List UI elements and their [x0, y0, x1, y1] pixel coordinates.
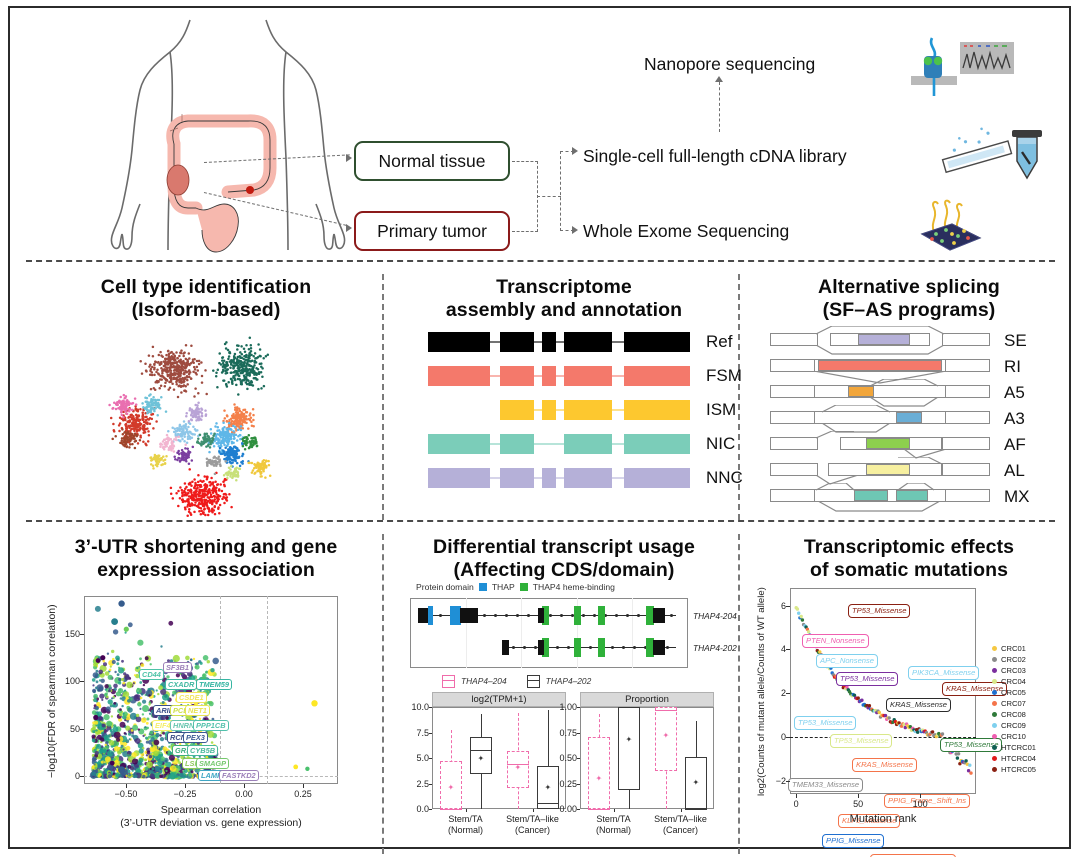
- exon-block: [542, 468, 556, 488]
- splicing-event-label-af: AF: [1004, 435, 1026, 455]
- heme-domain: [598, 606, 605, 625]
- figure-frame: Normal tissue Primary tumor Nanopore seq…: [8, 6, 1071, 849]
- flank-exon-right: [942, 489, 990, 502]
- intron-arrow: [483, 614, 486, 617]
- panel-utr-shortening: 3’-UTR shortening and gene expression as…: [28, 530, 384, 857]
- transcript-model-nnc: [428, 468, 698, 488]
- legend-dot-htcrc04: [992, 756, 997, 761]
- exon-block: [538, 640, 544, 655]
- divider-top: [26, 260, 1055, 262]
- legend-label-crc05[interactable]: CRC05: [1001, 688, 1026, 697]
- flank-exon-left: [770, 359, 818, 372]
- x-tick-label: 0.00: [231, 789, 257, 799]
- exon-block: [460, 608, 478, 623]
- gene-label-csde1[interactable]: CSDE1: [176, 692, 207, 703]
- boxplot-mean-marker: ✦: [663, 732, 670, 740]
- x-tick-label: −0.50: [113, 789, 139, 799]
- intron-arrow: [439, 614, 442, 617]
- tag-primary-tumor[interactable]: Primary tumor: [354, 211, 510, 251]
- facet-x-tickmark: [466, 809, 467, 812]
- intron-arrow: [527, 614, 530, 617]
- splicing-event-label-ri: RI: [1004, 357, 1021, 377]
- splicing-event-label-a5: A5: [1004, 383, 1025, 403]
- panel-title-splicing: Alternative splicing (SF–AS programs): [744, 276, 1074, 321]
- splicing-event-af: [770, 432, 990, 458]
- facet-y-tickmark: [577, 707, 580, 708]
- protein-domain-legend-title: Protein domain: [416, 582, 474, 592]
- boxplot-mean-marker: ✦: [515, 764, 522, 772]
- legend-dot-crc09: [992, 723, 997, 728]
- intron-arrow: [666, 646, 669, 649]
- gene-label-cd44[interactable]: CD44: [139, 669, 164, 680]
- facet-x-group-label-l2: (Normal): [580, 825, 648, 835]
- arrow-nanopore: [715, 76, 723, 82]
- mut-y-tickmark: [786, 781, 790, 782]
- top-workflow-row: Normal tissue Primary tumor Nanopore seq…: [20, 16, 1080, 262]
- exon-block: [500, 468, 534, 488]
- exon-block: [500, 400, 534, 420]
- exon-block: [500, 332, 534, 352]
- gene-label-cxadr[interactable]: CXADR: [165, 679, 197, 690]
- heme-domain: [598, 638, 605, 657]
- splicing-event-a3: [770, 406, 990, 432]
- exon-block: [624, 400, 690, 420]
- facet-x-group-label-l1: Stem/TA–like: [499, 814, 567, 824]
- legend-dot-crc10: [992, 734, 997, 739]
- legend-label-crc08[interactable]: CRC08: [1001, 710, 1026, 719]
- exon-block: [502, 640, 509, 655]
- box-legend-label-0: THAP4–204: [461, 676, 507, 686]
- boxplot-median: [470, 750, 492, 751]
- facet-y-tickmark: [577, 758, 580, 759]
- exon-block: [624, 468, 690, 488]
- boxplot-mean-marker: ✦: [596, 775, 603, 783]
- box-legend-label-1: THAP4–202: [546, 676, 592, 686]
- exon-block: [538, 608, 544, 623]
- panel-title-mutations: Transcriptomic effects of somatic mutati…: [744, 536, 1074, 581]
- transcript-category-label-ref: Ref: [706, 332, 732, 352]
- gene-label-tmem59[interactable]: TMEM59: [196, 679, 232, 690]
- legend-label-crc01[interactable]: CRC01: [1001, 644, 1026, 653]
- utr-xlabel-line1: Spearman correlation: [84, 804, 338, 816]
- legend-label-crc10[interactable]: CRC10: [1001, 732, 1026, 741]
- mutation-label-pten_nonsense[interactable]: PTEN_Nonsense: [802, 634, 869, 648]
- middle-analysis-row: Cell type identification (Isoform-based)…: [20, 270, 1080, 522]
- intron-arrow: [633, 646, 636, 649]
- step-label-nanopore: Nanopore sequencing: [644, 54, 815, 75]
- intron-arrow: [567, 646, 570, 649]
- y-tickmark: [80, 634, 84, 635]
- legend-dot-crc01: [992, 646, 997, 651]
- exon-block: [428, 468, 490, 488]
- y-tick-label: 0: [58, 771, 80, 781]
- tag-normal-label: Normal tissue: [379, 151, 486, 172]
- transcript-category-label-nic: NIC: [706, 434, 735, 454]
- facet-y-tickmark: [429, 784, 432, 785]
- mut-y-tick-label: −2: [766, 776, 786, 786]
- step-label-cdna: Single-cell full-length cDNA library: [583, 146, 847, 167]
- domain-swatch-0: [479, 583, 487, 591]
- facet-strip-0: log2(TPM+1): [432, 692, 566, 707]
- flank-exon-right: [942, 437, 990, 450]
- splicing-event-label-se: SE: [1004, 331, 1027, 351]
- mut-x-tickmark: [796, 794, 797, 798]
- mx-exon-b: [896, 490, 928, 501]
- tag-normal-tissue[interactable]: Normal tissue: [354, 141, 510, 181]
- protein-domain-legend: Protein domainTHAPTHAP4 heme-binding: [416, 580, 716, 594]
- intron-arrow: [670, 614, 673, 617]
- exon-block: [542, 400, 556, 420]
- divider-bottom: [26, 520, 1055, 522]
- boxplot-mean-marker: ✦: [626, 736, 633, 744]
- exon-block: [564, 468, 612, 488]
- intron-arrow: [589, 646, 592, 649]
- bottom-results-row: 3’-UTR shortening and gene expression as…: [20, 530, 1080, 857]
- alt-first-exon-fill: [866, 438, 910, 449]
- mutation-label-pik3ca_missense[interactable]: PIK3CA_Missense: [908, 666, 979, 680]
- connector-tumor-out: [512, 231, 538, 232]
- facet-y-tickmark: [429, 733, 432, 734]
- legend-dot-crc08: [992, 712, 997, 717]
- splicing-event-a5: [770, 380, 990, 406]
- facet-x-group-label-l1: Stem/TA–like: [647, 814, 715, 824]
- boxplot-median: [618, 707, 640, 708]
- legend-label-crc09[interactable]: CRC09: [1001, 721, 1026, 730]
- facet-x-tickmark: [533, 809, 534, 812]
- exon-block: [428, 332, 490, 352]
- gene-label-smagp[interactable]: SMAGP: [196, 758, 229, 769]
- flank-exon-left: [770, 333, 818, 346]
- gene-label-cyb5b[interactable]: CYB5B: [187, 745, 218, 756]
- facet-y-tick-label: 0.25: [552, 779, 577, 789]
- legend-label-htcrc05[interactable]: HTCRC05: [1001, 765, 1036, 774]
- legend-label-htcrc01[interactable]: HTCRC01: [1001, 743, 1036, 752]
- legend-label-crc04[interactable]: CRC04: [1001, 677, 1026, 686]
- boxplot-box: [618, 707, 640, 790]
- facet-x-tickmark: [614, 809, 615, 812]
- assembly-transcript-models: RefFSMISMNICNNC: [388, 332, 740, 512]
- splicing-event-se: [770, 328, 990, 354]
- gene-label-sf3b1[interactable]: SF3B1: [163, 662, 192, 673]
- intron-arrow: [637, 614, 640, 617]
- domain-legend-label-0: THAP: [492, 582, 515, 592]
- transcript-model-ism: [428, 400, 698, 420]
- mut-x-tickmark: [858, 794, 859, 798]
- facet-y-tickmark: [577, 809, 580, 810]
- transcript-category-label-nnc: NNC: [706, 468, 743, 488]
- exon-block: [428, 434, 490, 454]
- mutation-label-tp53_missense[interactable]: TP53_Missense: [830, 734, 892, 748]
- boxplot-mean-marker: ✦: [693, 779, 700, 787]
- mut-y-tick-label: 4: [766, 644, 786, 654]
- gene-label-pex3[interactable]: PEX3: [183, 732, 208, 743]
- boxplot-median: [655, 710, 677, 711]
- panel-title-assembly: Transcriptome assembly and annotation: [388, 276, 740, 321]
- legend-label-crc07[interactable]: CRC07: [1001, 699, 1026, 708]
- gene-label-net1[interactable]: NET1: [185, 705, 210, 716]
- intron-arrow: [516, 614, 519, 617]
- box-legend: THAP4–204 THAP4–202: [442, 674, 692, 688]
- facet-x-tickmark: [681, 809, 682, 812]
- intron-arrow: [593, 614, 596, 617]
- transcript-model-fsm: [428, 366, 698, 386]
- transcript-name-thap4-202: THAP4-202: [693, 643, 737, 653]
- tag-tumor-label: Primary tumor: [377, 221, 487, 242]
- exon-block: [500, 434, 534, 454]
- x-tickmark: [185, 784, 186, 788]
- transcript-model-nic: [428, 434, 698, 454]
- arrow-tumor: [346, 224, 352, 232]
- heme-domain: [574, 638, 581, 657]
- domain-legend-label-1: THAP4 heme-binding: [533, 582, 615, 592]
- exon-block: [564, 366, 612, 386]
- connector-merge-horizontal: [537, 196, 561, 197]
- panel-alternative-splicing: Alternative splicing (SF–AS programs) SE…: [744, 270, 1074, 522]
- legend-dot-crc02: [992, 657, 997, 662]
- arrow-normal: [346, 154, 352, 162]
- mut-y-tickmark: [786, 737, 790, 738]
- exon-block: [624, 434, 690, 454]
- x-tickmark: [126, 784, 127, 788]
- connector-cdna-to-nanopore: [719, 82, 720, 132]
- exon-block: [564, 434, 612, 454]
- y-tick-label: 50: [58, 724, 80, 734]
- splicing-event-label-mx: MX: [1004, 487, 1030, 507]
- panel-title-cell-type: Cell type identification (Isoform-based): [28, 276, 384, 321]
- facet-y-tick-label: 0.75: [552, 728, 577, 738]
- boxplot-mean-marker: ✦: [448, 784, 455, 792]
- intron-arrow: [622, 646, 625, 649]
- exon-block: [564, 332, 612, 352]
- intron-arrow: [556, 646, 559, 649]
- y-tickmark: [80, 729, 84, 730]
- y-tickmark: [80, 681, 84, 682]
- mut-xlabel: Mutation rank: [790, 813, 976, 825]
- gene-label-fastkd2[interactable]: FASTKD2: [219, 770, 259, 781]
- skipped-exon-fill: [858, 334, 910, 345]
- structure-gridline: [521, 598, 522, 668]
- splicing-event-al: [770, 458, 990, 484]
- facet-y-tickmark: [429, 758, 432, 759]
- x-tick-label: −0.25: [172, 789, 198, 799]
- boxplot-box: [588, 737, 610, 809]
- panel-differential-transcript-usage: Differential transcript usage (Affecting…: [388, 530, 740, 857]
- facet-strip-1: Proportion: [580, 692, 714, 707]
- boxplot-mean-marker: ✦: [545, 784, 552, 792]
- legend-dot-htcrc01: [992, 745, 997, 750]
- legend-dot-htcrc05: [992, 767, 997, 772]
- structure-gridline: [632, 598, 633, 668]
- mutation-rank-plot: TP53_MissensePTEN_NonsenseAPC_NonsenseTP…: [744, 582, 1074, 857]
- heme-domain: [574, 606, 581, 625]
- domain-swatch-1: [520, 583, 528, 591]
- legend-label-crc02[interactable]: CRC02: [1001, 655, 1026, 664]
- facet-y-tick-label: 10.0: [404, 702, 429, 712]
- panel-transcriptome-assembly: Transcriptome assembly and annotation Re…: [388, 270, 740, 522]
- mutation-label-ppig_missense[interactable]: PPIG_Missense: [822, 834, 884, 848]
- boxplot-median: [440, 809, 462, 810]
- intron-arrow: [549, 614, 552, 617]
- mut-x-tick-label: 0: [784, 799, 808, 809]
- panel-title-dtu: Differential transcript usage (Affecting…: [388, 536, 740, 581]
- x-tick-label: 0.25: [290, 789, 316, 799]
- splicing-event-models: SERIA5A3AFALMX: [744, 328, 1074, 518]
- flank-exon-right: [942, 333, 990, 346]
- exon-block: [428, 366, 490, 386]
- facet-y-tick-label: 0.0: [404, 804, 429, 814]
- splicing-event-ri: [770, 354, 990, 380]
- mut-ylabel: log2(Counts of mutant allele/Counts of W…: [756, 587, 767, 796]
- facet-x-group-label-l2: (Cancer): [499, 825, 567, 835]
- flank-exon-right: [942, 385, 990, 398]
- mutation-label-tmem33_missense[interactable]: TMEM33_Missense: [788, 778, 863, 792]
- step-label-wes: Whole Exome Sequencing: [583, 221, 789, 242]
- alt-last-exon-fill: [866, 464, 910, 475]
- mut-y-tick-label: 2: [766, 688, 786, 698]
- y-tick-label: 150: [58, 629, 80, 639]
- intron-arrow: [615, 614, 618, 617]
- box-legend-swatch-0: [442, 675, 455, 688]
- intron-arrow: [582, 614, 585, 617]
- panel-somatic-mutations: Transcriptomic effects of somatic mutati…: [744, 530, 1074, 857]
- flank-exon-left: [770, 463, 818, 476]
- facet-x-group-label-l1: Stem/TA: [580, 814, 648, 824]
- connector-normal-out: [512, 161, 538, 162]
- alt-3ss-fill: [896, 412, 922, 423]
- panel-cell-type-identification: Cell type identification (Isoform-based): [28, 270, 384, 522]
- nanopore-pore-signal-icon: [908, 36, 1018, 98]
- mut-y-tick-label: 0: [766, 732, 786, 742]
- arrow-wes: [572, 226, 578, 234]
- facet-x-group-label-l2: (Normal): [432, 825, 500, 835]
- exon-block: [418, 608, 428, 623]
- flank-exon-left: [770, 489, 818, 502]
- legend-dot-crc05: [992, 690, 997, 695]
- intron-arrow: [560, 614, 563, 617]
- x-tickmark: [244, 784, 245, 788]
- utr-ylabel: −log10(FDR of spearman correlation): [46, 604, 58, 778]
- intron-arrow: [512, 646, 515, 649]
- y-tickmark: [80, 776, 84, 777]
- utr-volcano-plot: SF3B1CD44CXADRTMEM59CSDE1ARIH2PCBP2NET1E…: [28, 588, 384, 856]
- exon-block: [542, 366, 556, 386]
- mutation-label-tp53_missense[interactable]: TP53_Missense: [836, 672, 898, 686]
- facet-y-tickmark: [577, 733, 580, 734]
- mutation-label-tp53_missense[interactable]: TP53_Missense: [794, 716, 856, 730]
- intron-arrow: [611, 646, 614, 649]
- intron-arrow: [626, 614, 629, 617]
- facet-y-tick-label: 0.00: [552, 804, 577, 814]
- legend-dot-crc03: [992, 668, 997, 673]
- mutation-label-kras_missense[interactable]: KRAS_Missense: [886, 698, 951, 712]
- exome-capture-array-icon: [908, 198, 988, 260]
- flank-exon-right: [942, 463, 990, 476]
- mx-exon-a: [854, 490, 888, 501]
- intron-arrow: [505, 614, 508, 617]
- legend-label-crc03[interactable]: CRC03: [1001, 666, 1026, 675]
- exon-block: [653, 640, 665, 655]
- connector-split-vertical: [560, 151, 561, 231]
- mut-y-tick-label: 6: [766, 601, 786, 611]
- boxplot-median: [685, 809, 707, 810]
- exon-block: [653, 608, 665, 623]
- gene-label-ppp1cb[interactable]: PPP1CB: [193, 720, 229, 731]
- flank-exon-left: [770, 411, 818, 424]
- facet-x-group-label-l2: (Cancer): [647, 825, 715, 835]
- mut-x-tickmark: [920, 794, 921, 798]
- mutation-label-tp53_missense[interactable]: TP53_Missense: [848, 604, 910, 618]
- y-tick-label: 100: [58, 676, 80, 686]
- splicing-event-label-al: AL: [1004, 461, 1025, 481]
- boxplot-mean-marker: ✦: [478, 755, 485, 763]
- splicing-event-mx: [770, 484, 990, 510]
- figure-root: Normal tissue Primary tumor Nanopore seq…: [0, 0, 1080, 857]
- flank-exon-left: [770, 385, 818, 398]
- facet-y-tick-label: 7.5: [404, 728, 429, 738]
- mutation-label-apc_nonsense[interactable]: APC_Nonsense: [816, 654, 878, 668]
- mut-y-tickmark: [786, 693, 790, 694]
- intron-arrow: [523, 646, 526, 649]
- facet-y-tick-label: 2.5: [404, 779, 429, 789]
- thap-domain: [428, 606, 433, 625]
- exon-block: [500, 366, 534, 386]
- legend-dot-crc04: [992, 679, 997, 684]
- transcript-model-ref: [428, 332, 698, 352]
- transcript-category-label-ism: ISM: [706, 400, 736, 420]
- flank-exon-right: [942, 411, 990, 424]
- intron-arrow: [534, 646, 537, 649]
- legend-label-htcrc04[interactable]: HTCRC04: [1001, 754, 1036, 763]
- facet-x-group-label-l1: Stem/TA: [432, 814, 500, 824]
- flank-exon-right: [942, 359, 990, 372]
- mut-y-tickmark: [786, 606, 790, 607]
- flank-exon-left: [770, 437, 818, 450]
- dtu-transcript-and-box-plots: Protein domainTHAPTHAP4 heme-bindingTHAP…: [388, 580, 740, 857]
- mutation-label-kras_missense[interactable]: KRAS_Missense: [852, 758, 917, 772]
- transcript-category-label-fsm: FSM: [706, 366, 742, 386]
- boxplot-median: [588, 809, 610, 810]
- facet-y-tick-label: 5.0: [404, 753, 429, 763]
- utr-xlabel-line2: (3’-UTR deviation vs. gene expression): [64, 817, 358, 829]
- facet-y-tickmark: [429, 809, 432, 810]
- mut-x-tick-label: 50: [846, 799, 870, 809]
- facet-y-tick-label: 1.00: [552, 702, 577, 712]
- exon-block: [624, 366, 690, 386]
- intron-arrow: [494, 614, 497, 617]
- mut-x-tick-label: 100: [908, 799, 932, 809]
- panel-title-utr: 3’-UTR shortening and gene expression as…: [28, 536, 384, 581]
- tsne-cluster-plot: [64, 328, 350, 518]
- splicing-event-label-a3: A3: [1004, 409, 1025, 429]
- mutation-label-kras_missense[interactable]: KRAS_Missense: [942, 682, 1007, 696]
- slide-and-tube-icon: [938, 126, 1058, 190]
- facet-y-tick-label: 0.50: [552, 753, 577, 763]
- human-torso-colon-icon: [78, 18, 378, 262]
- x-tickmark: [303, 784, 304, 788]
- retained-intron-fill: [818, 360, 942, 371]
- arrow-cdna: [572, 147, 578, 155]
- facet-y-tickmark: [577, 784, 580, 785]
- exon-block: [624, 332, 690, 352]
- exon-block: [542, 332, 556, 352]
- box-legend-swatch-1: [527, 675, 540, 688]
- facet-y-tickmark: [429, 707, 432, 708]
- alt-5ss-fill: [848, 386, 874, 397]
- transcript-name-thap4-204: THAP4-204: [693, 611, 737, 621]
- mut-y-tickmark: [786, 649, 790, 650]
- legend-dot-crc07: [992, 701, 997, 706]
- exon-block: [564, 400, 612, 420]
